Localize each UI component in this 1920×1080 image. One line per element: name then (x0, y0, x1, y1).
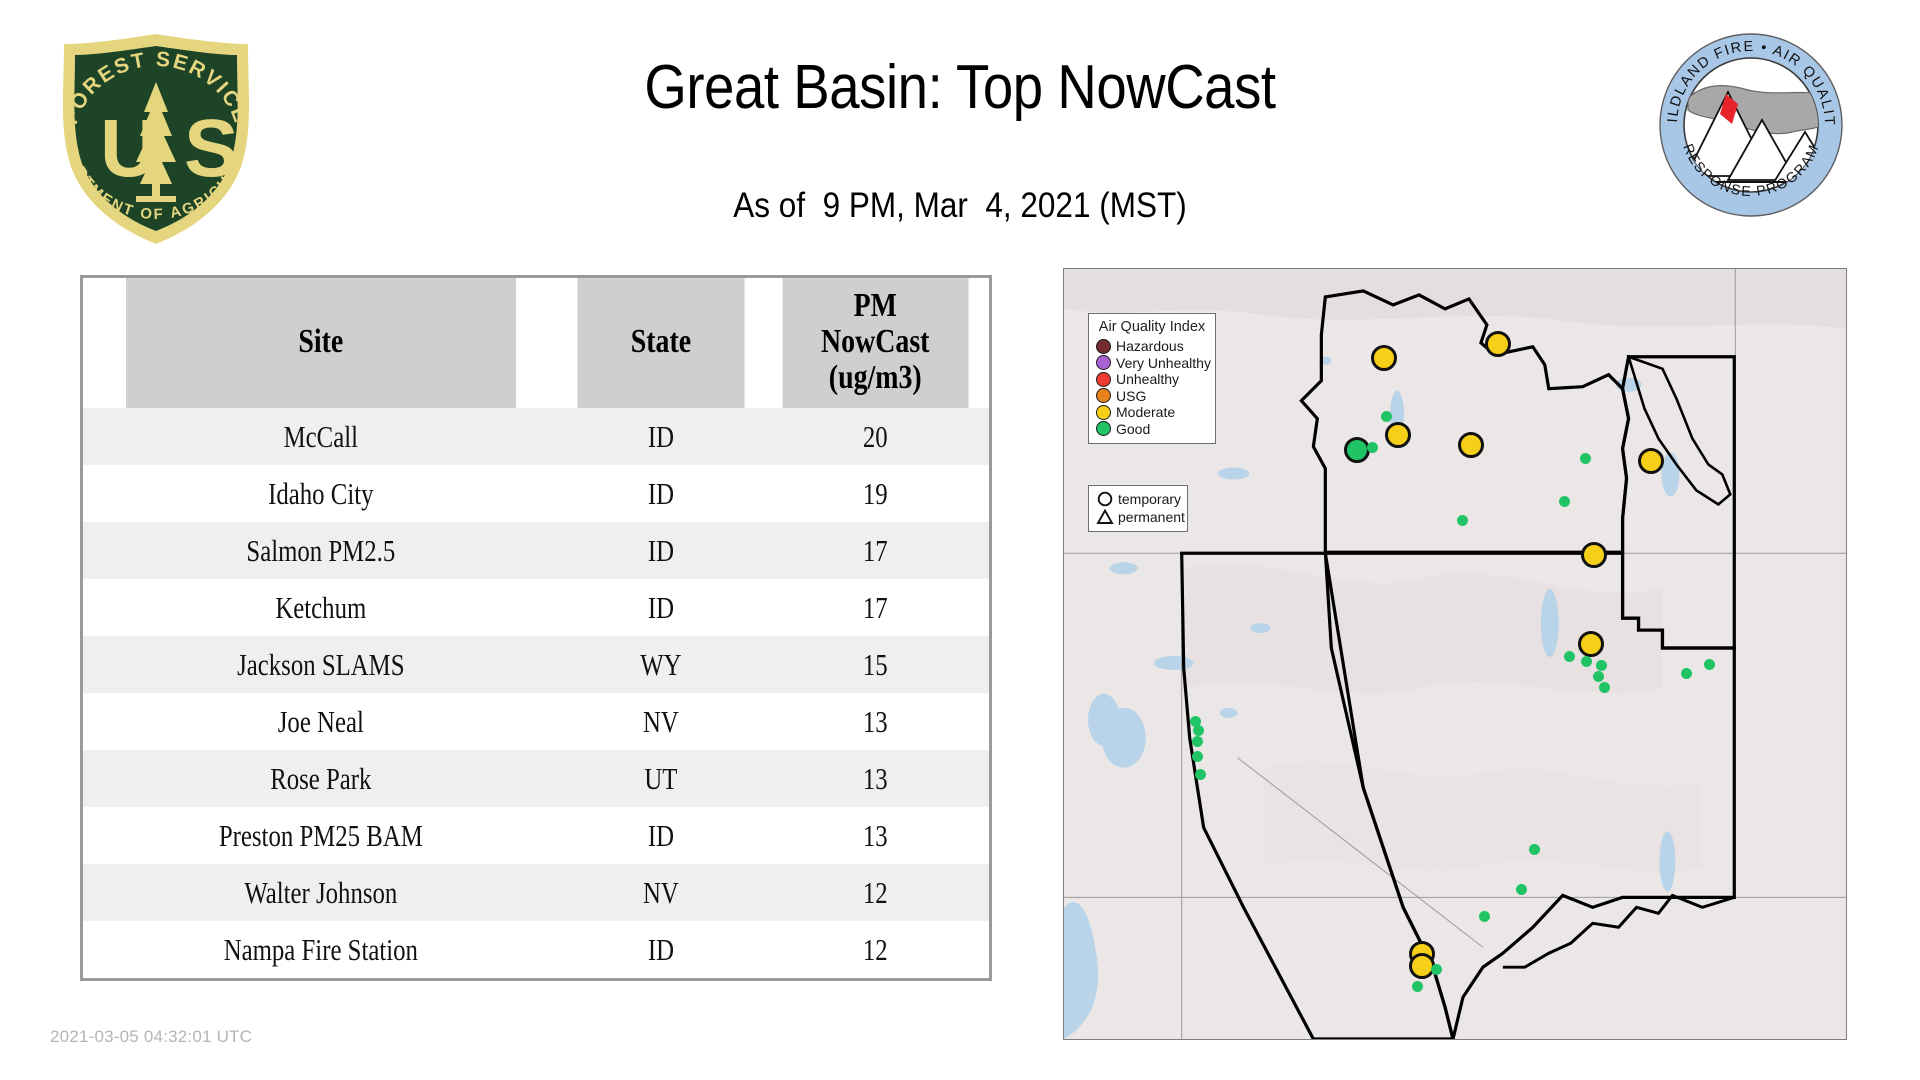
aqi-swatch-icon (1096, 372, 1111, 387)
monitor-rose-park[interactable] (1578, 631, 1604, 657)
monitor-good-12[interactable] (1704, 659, 1715, 670)
cell-state: UT (579, 750, 742, 807)
legend-label-permanent: permanent (1118, 509, 1185, 525)
aqi-map-panel[interactable]: Air Quality Index HazardousVery Unhealth… (1063, 268, 1847, 1040)
header-line-units: (ug/m3) (786, 360, 965, 396)
aqi-legend-item: Good (1096, 421, 1208, 438)
cell-state: ID (579, 579, 742, 636)
monitor-mccall[interactable] (1371, 345, 1397, 371)
monitor-good-22[interactable] (1412, 981, 1423, 992)
cell-state: ID (579, 408, 742, 465)
cell-site: Walter Johnson (131, 864, 512, 921)
monitor-preston-pm25-bam[interactable] (1581, 542, 1607, 568)
table-row: Salmon PM2.5ID17 (83, 522, 989, 579)
table-row: Joe NealNV13 (83, 693, 989, 750)
cell-site: Ketchum (131, 579, 512, 636)
monitor-good-10[interactable] (1599, 682, 1610, 693)
aqi-legend-label: Hazardous (1116, 338, 1184, 354)
cell-value: 17 (785, 522, 966, 579)
column-header-site: Site (126, 278, 516, 408)
monitor-good-11[interactable] (1681, 668, 1692, 679)
aqi-swatch-icon (1096, 355, 1111, 370)
column-header-state: State (577, 278, 744, 408)
aqi-legend-rows: HazardousVery UnhealthyUnhealthyUSGModer… (1096, 338, 1208, 437)
monitor-good-16[interactable] (1192, 751, 1203, 762)
aqi-swatch-icon (1096, 421, 1111, 436)
monitor-good-2[interactable] (1367, 442, 1378, 453)
table-row: KetchumID17 (83, 579, 989, 636)
cell-site: Idaho City (131, 465, 512, 522)
aqi-legend-item: Very Unhealthy (1096, 355, 1208, 372)
cell-state: NV (579, 693, 742, 750)
cell-site: Jackson SLAMS (131, 636, 512, 693)
cell-value: 13 (785, 807, 966, 864)
monitor-salmon[interactable] (1485, 331, 1511, 357)
aqi-swatch-icon (1096, 388, 1111, 403)
monitor-good-3[interactable] (1580, 453, 1591, 464)
cell-site: McCall (131, 408, 512, 465)
aqi-swatch-icon (1096, 405, 1111, 420)
table-row: Idaho CityID19 (83, 465, 989, 522)
cell-site: Rose Park (131, 750, 512, 807)
cell-state: ID (579, 807, 742, 864)
cell-value: 13 (785, 750, 966, 807)
cell-state: ID (579, 921, 742, 978)
aqi-legend-label: Unhealthy (1116, 371, 1179, 387)
legend-row-temporary: temporary (1095, 490, 1181, 508)
page-subtitle: As of 9 PM, Mar 4, 2021 (MST) (96, 185, 1824, 227)
monitor-jackson-slams[interactable] (1638, 448, 1664, 474)
aqi-legend-item: Moderate (1096, 404, 1208, 421)
cell-value: 15 (785, 636, 966, 693)
monitor-good-19[interactable] (1516, 884, 1527, 895)
generated-timestamp: 2021-03-05 04:32:01 UTC (50, 1027, 252, 1047)
cell-state: WY (579, 636, 742, 693)
page-title: Great Basin: Top NowCast (115, 52, 1805, 124)
table-row: Jackson SLAMSWY15 (83, 636, 989, 693)
monitor-good-15[interactable] (1192, 736, 1203, 747)
header-line-nowcast: NowCast (786, 324, 965, 360)
table-body: McCallID20Idaho CityID19Salmon PM2.5ID17… (83, 408, 989, 978)
aqi-legend-label: Moderate (1116, 404, 1175, 420)
monitor-good-8[interactable] (1596, 660, 1607, 671)
aqi-legend-item: Unhealthy (1096, 371, 1208, 388)
aqi-legend-item: Hazardous (1096, 338, 1208, 355)
aqi-legend-title: Air Quality Index (1096, 319, 1208, 335)
circle-outline-icon (1095, 491, 1115, 507)
monitor-good-14[interactable] (1193, 725, 1204, 736)
table-row: Nampa Fire StationID12 (83, 921, 989, 978)
cell-value: 20 (785, 408, 966, 465)
legend-row-permanent: permanent (1095, 508, 1181, 526)
aqi-legend-item: USG (1096, 388, 1208, 405)
cell-site: Nampa Fire Station (131, 921, 512, 978)
column-header-pm-nowcast: PM NowCast (ug/m3) (783, 278, 969, 408)
cell-value: 12 (785, 864, 966, 921)
cell-site: Salmon PM2.5 (131, 522, 512, 579)
monitor-good-5[interactable] (1457, 515, 1468, 526)
aqi-swatch-icon (1096, 339, 1111, 354)
header-line-pm: PM (786, 288, 965, 324)
table-header: Site State PM NowCast (ug/m3) (83, 278, 989, 408)
aqi-legend: Air Quality Index HazardousVery Unhealth… (1088, 313, 1216, 444)
cell-value: 17 (785, 579, 966, 636)
monitor-good-21[interactable] (1431, 964, 1442, 975)
monitor-idaho-city[interactable] (1385, 422, 1411, 448)
table-row: Preston PM25 BAMID13 (83, 807, 989, 864)
monitor-ketchum[interactable] (1458, 432, 1484, 458)
cell-value: 13 (785, 693, 966, 750)
table-row: Walter JohnsonNV12 (83, 864, 989, 921)
site-table: Site State PM NowCast (ug/m3) McCallID20… (83, 278, 989, 978)
monitor-good-4[interactable] (1559, 496, 1570, 507)
monitor-good-17[interactable] (1195, 769, 1206, 780)
legend-label-temporary: temporary (1118, 491, 1181, 507)
monitor-good-18[interactable] (1529, 844, 1540, 855)
monitor-good-7[interactable] (1581, 656, 1592, 667)
cell-site: Joe Neal (131, 693, 512, 750)
table-row: Rose ParkUT13 (83, 750, 989, 807)
cell-site: Preston PM25 BAM (131, 807, 512, 864)
cell-value: 12 (785, 921, 966, 978)
site-table-container: Site State PM NowCast (ug/m3) McCallID20… (80, 275, 992, 981)
aqi-legend-label: Very Unhealthy (1116, 355, 1211, 371)
monitor-nampa-fire-station[interactable] (1344, 437, 1370, 463)
cell-state: ID (579, 465, 742, 522)
aqi-legend-label: USG (1116, 388, 1146, 404)
triangle-outline-icon (1095, 509, 1115, 525)
table-row: McCallID20 (83, 408, 989, 465)
monitor-good-9[interactable] (1593, 671, 1604, 682)
aqi-legend-label: Good (1116, 421, 1150, 437)
monitor-good-6[interactable] (1564, 651, 1575, 662)
monitor-type-legend: temporary permanent (1088, 485, 1188, 532)
monitor-good-1[interactable] (1381, 411, 1392, 422)
cell-state: NV (579, 864, 742, 921)
monitor-good-20[interactable] (1479, 911, 1490, 922)
cell-value: 19 (785, 465, 966, 522)
cell-state: ID (579, 522, 742, 579)
